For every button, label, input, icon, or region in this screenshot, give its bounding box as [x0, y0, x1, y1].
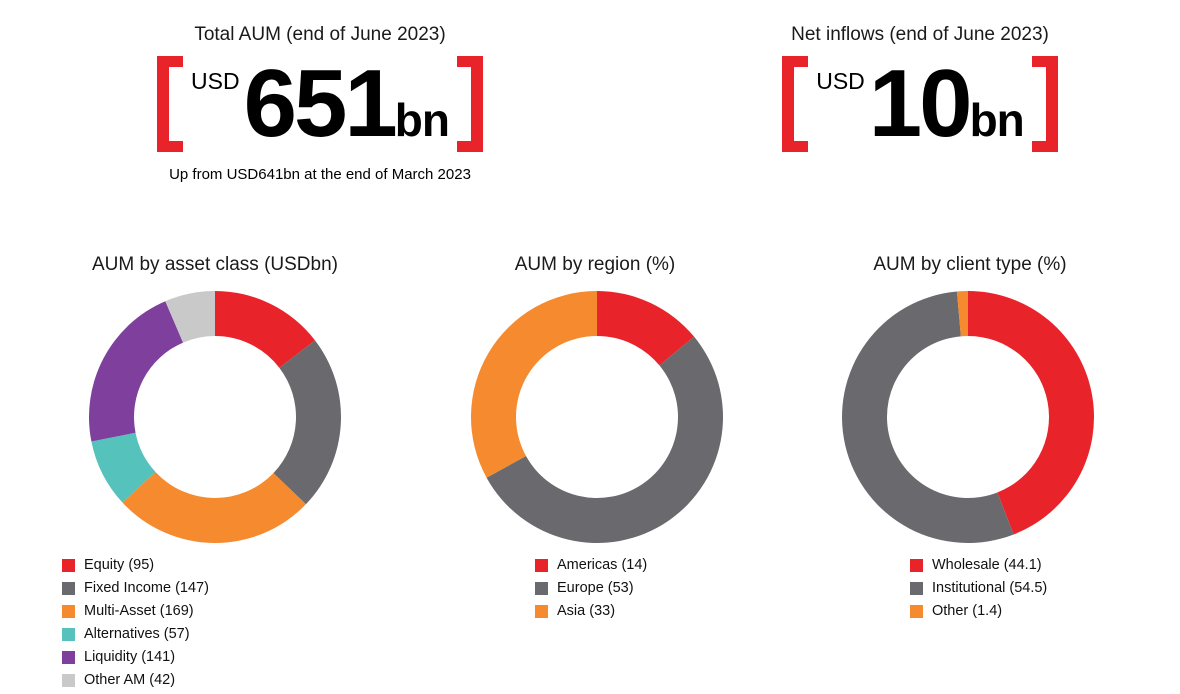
- kpi-total-aum-value: 651: [244, 56, 395, 152]
- kpi-total-aum: Total AUM (end of June 2023) USD 651 bn …: [60, 24, 580, 184]
- legend-item[interactable]: Other AM (42): [62, 671, 222, 690]
- legend-label: Europe (53): [557, 579, 634, 598]
- kpi-total-aum-title: Total AUM (end of June 2023): [60, 24, 580, 46]
- legend-item[interactable]: Alternatives (57): [62, 625, 222, 644]
- chart-panel-aum-by-region: AUM by region (%) Americas (14)Europe (5…: [420, 254, 770, 625]
- legend-swatch-icon: [535, 605, 548, 618]
- chart-title-aum-by-region: AUM by region (%): [420, 254, 770, 276]
- donut-aum-by-asset-class: [40, 282, 390, 552]
- bracket-left-icon: [157, 56, 183, 152]
- kpi-net-inflows: Net inflows (end of June 2023) USD 10 bn: [660, 24, 1180, 152]
- chart-panel-aum-by-client-type: AUM by client type (%) Wholesale (44.1)I…: [790, 254, 1150, 625]
- legend-label: Asia (33): [557, 602, 615, 621]
- bracket-right-icon: [1032, 56, 1058, 152]
- legend-column-left: Americas (14)Europe (53)Asia (33): [535, 556, 647, 625]
- donut-slice: [471, 291, 597, 478]
- donut-aum-by-region: [420, 282, 770, 552]
- legend-item[interactable]: Equity (95): [62, 556, 242, 575]
- kpi-total-aum-currency: USD: [191, 56, 244, 93]
- donut-slice: [122, 472, 305, 543]
- kpi-net-inflows-figure: USD 10 bn: [660, 56, 1180, 152]
- legend-swatch-icon: [535, 559, 548, 572]
- legend-item[interactable]: Wholesale (44.1): [910, 556, 1047, 575]
- legend-column-left: Equity (95)Fixed Income (147)Multi-Asset…: [62, 556, 242, 625]
- legend-label: Multi-Asset (169): [84, 602, 194, 621]
- legend-item[interactable]: Multi-Asset (169): [62, 602, 242, 621]
- legend-label: Other (1.4): [932, 602, 1002, 621]
- kpi-net-inflows-title: Net inflows (end of June 2023): [660, 24, 1180, 46]
- legend-aum-by-region: Americas (14)Europe (53)Asia (33): [420, 556, 770, 625]
- legend-label: Fixed Income (147): [84, 579, 209, 598]
- legend-column-right: Alternatives (57)Liquidity (141)Other AM…: [62, 625, 222, 694]
- chart-panel-aum-by-asset-class: AUM by asset class (USDbn) Equity (95)Fi…: [40, 254, 390, 694]
- kpi-net-inflows-unit: bn: [970, 97, 1024, 143]
- bracket-right-icon: [457, 56, 483, 152]
- legend-label: Equity (95): [84, 556, 154, 575]
- legend-label: Other AM (42): [84, 671, 175, 690]
- legend-swatch-icon: [535, 582, 548, 595]
- kpi-total-aum-unit: bn: [395, 97, 449, 143]
- kpi-total-aum-subtext: Up from USD641bn at the end of March 202…: [60, 166, 580, 184]
- donut-svg-client-type: [790, 282, 1150, 552]
- donut-svg-asset-class: [40, 282, 390, 552]
- legend-swatch-icon: [910, 605, 923, 618]
- legend-swatch-icon: [62, 605, 75, 618]
- legend-item[interactable]: Americas (14): [535, 556, 647, 575]
- legend-swatch-icon: [910, 582, 923, 595]
- legend-aum-by-asset-class: Equity (95)Fixed Income (147)Multi-Asset…: [40, 556, 390, 694]
- legend-aum-by-client-type: Wholesale (44.1)Institutional (54.5)Othe…: [790, 556, 1150, 625]
- donut-slice: [89, 301, 183, 441]
- legend-item[interactable]: Asia (33): [535, 602, 647, 621]
- legend-label: Alternatives (57): [84, 625, 190, 644]
- kpi-total-aum-figure: USD 651 bn: [60, 56, 580, 152]
- donut-aum-by-client-type: [790, 282, 1150, 552]
- donut-slice: [273, 340, 341, 504]
- legend-swatch-icon: [62, 582, 75, 595]
- legend-item[interactable]: Fixed Income (147): [62, 579, 242, 598]
- legend-label: Institutional (54.5): [932, 579, 1047, 598]
- legend-swatch-icon: [62, 651, 75, 664]
- legend-column-left: Wholesale (44.1)Institutional (54.5)Othe…: [910, 556, 1047, 625]
- legend-swatch-icon: [910, 559, 923, 572]
- chart-title-aum-by-client-type: AUM by client type (%): [790, 254, 1150, 276]
- bracket-left-icon: [782, 56, 808, 152]
- donut-svg-region: [420, 282, 770, 552]
- legend-label: Wholesale (44.1): [932, 556, 1042, 575]
- legend-swatch-icon: [62, 628, 75, 641]
- legend-item[interactable]: Institutional (54.5): [910, 579, 1047, 598]
- kpi-net-inflows-currency: USD: [816, 56, 869, 93]
- legend-swatch-icon: [62, 559, 75, 572]
- kpi-net-inflows-value: 10: [869, 56, 970, 152]
- legend-item[interactable]: Other (1.4): [910, 602, 1047, 621]
- legend-label: Americas (14): [557, 556, 647, 575]
- legend-swatch-icon: [62, 674, 75, 687]
- chart-title-aum-by-asset-class: AUM by asset class (USDbn): [40, 254, 390, 276]
- legend-item[interactable]: Europe (53): [535, 579, 647, 598]
